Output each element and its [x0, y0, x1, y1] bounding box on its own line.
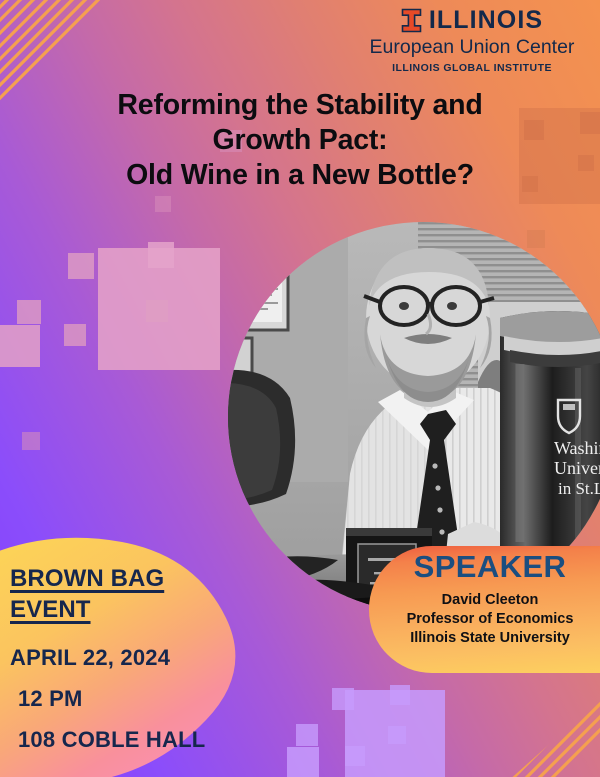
- sparkle-icon: [345, 690, 445, 777]
- sparkle-icon: [390, 685, 410, 705]
- sparkle-icon: [68, 253, 94, 279]
- sparkle-icon: [0, 325, 40, 367]
- title-line-3: Old Wine in a New Bottle?: [34, 158, 566, 193]
- sparkle-icon: [146, 300, 168, 322]
- sparkle-icon: [527, 230, 545, 248]
- logo-institute-name: ILLINOIS GLOBAL INSTITUTE: [362, 62, 582, 74]
- title-line-1: Reforming the Stability and: [34, 88, 566, 123]
- sparkle-icon: [148, 242, 174, 268]
- sparkle-icon: [64, 324, 86, 346]
- speaker-affiliation: Illinois State University: [380, 629, 600, 648]
- event-poster: ILLINOIS European Union Center ILLINOIS …: [0, 0, 600, 777]
- logo-wordmark-row: ILLINOIS: [362, 8, 582, 33]
- event-location: 108 COBLE HALL: [10, 727, 310, 753]
- sparkle-icon: [98, 248, 220, 370]
- mug-text-line-2: Univers: [554, 458, 600, 478]
- title-line-2: Growth Pact:: [34, 123, 566, 158]
- speaker-info: David Cleeton Professor of Economics Ill…: [380, 591, 600, 649]
- sparkle-icon: [388, 726, 406, 744]
- event-type: BROWN BAG EVENT: [10, 563, 310, 625]
- event-date: APRIL 22, 2024: [10, 645, 310, 671]
- event-time: 12 PM: [10, 686, 310, 712]
- speaker-heading: SPEAKER: [380, 551, 600, 584]
- illinois-block-i-icon: [401, 8, 422, 33]
- stripes-bottom-right: [480, 690, 600, 777]
- speaker-name: David Cleeton: [380, 591, 600, 610]
- poster-title: Reforming the Stability and Growth Pact:…: [0, 88, 600, 192]
- mug-text-line-1: Washing: [554, 438, 600, 458]
- speaker-role: Professor of Economics: [380, 610, 600, 629]
- logo-unit-name: European Union Center: [362, 36, 582, 58]
- sparkle-icon: [17, 300, 41, 324]
- speaker-details: SPEAKER David Cleeton Professor of Econo…: [380, 551, 600, 648]
- illinois-logo: ILLINOIS European Union Center ILLINOIS …: [362, 8, 582, 74]
- event-type-line-1: BROWN BAG: [10, 565, 164, 592]
- sparkle-icon: [345, 746, 365, 766]
- sparkle-icon: [155, 196, 171, 212]
- mug-text-line-3: in St.Lo: [558, 479, 600, 498]
- logo-wordmark: ILLINOIS: [429, 8, 543, 33]
- event-type-line-2: EVENT: [10, 596, 91, 623]
- event-details: BROWN BAG EVENT APRIL 22, 2024 12 PM 108…: [10, 563, 310, 753]
- sparkle-icon: [22, 432, 40, 450]
